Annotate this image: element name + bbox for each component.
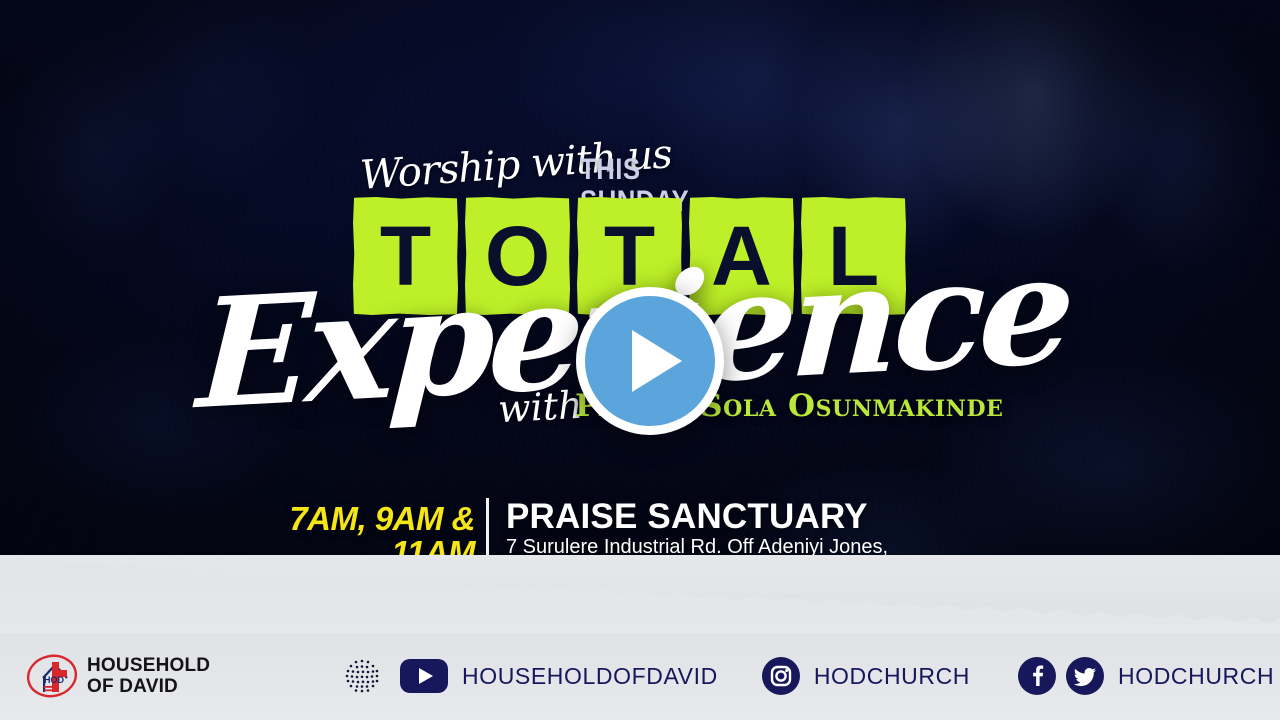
youtube-icon (400, 659, 448, 693)
venue-name: PRAISE SANCTUARY (506, 496, 868, 537)
logo-monogram: HOD (44, 675, 65, 685)
facebook-icon (1018, 657, 1056, 695)
logo-svg: HOD (26, 652, 78, 700)
logo-wordmark: HOUSEHOLD OF DAVID (87, 655, 210, 697)
video-thumbnail: Worship with us THIS SUNDAY T O T A L Ex… (0, 0, 1280, 720)
play-button[interactable] (576, 287, 724, 435)
twitter-handle: HODCHURCH (1118, 664, 1274, 689)
social-instagram[interactable]: HODCHURCH (762, 657, 970, 695)
logo-line-1: HOUSEHOLD (87, 655, 210, 676)
social-links: HOUSEHOLDOFDAVID HODCHURCH (342, 656, 1274, 696)
with-word-text: with (497, 384, 584, 430)
torn-paper-edge (0, 555, 1280, 633)
brand-logo[interactable]: HOD HOUSEHOLD OF DAVID (26, 652, 210, 700)
play-triangle-icon (632, 330, 682, 392)
social-facebook[interactable] (1018, 657, 1056, 695)
logo-line-2: OF DAVID (87, 676, 210, 697)
twitter-icon (1066, 657, 1104, 695)
social-twitter[interactable]: HODCHURCH (1066, 657, 1274, 695)
household-of-david-mark-icon: HOD (26, 652, 78, 700)
instagram-handle: HODCHURCH (814, 664, 970, 689)
social-youtube[interactable]: HOUSEHOLDOFDAVID (400, 659, 718, 693)
instagram-icon (762, 657, 800, 695)
dotted-circle-decoration-icon (342, 656, 382, 696)
eyebrow-line: Worship with us THIS SUNDAY (352, 140, 772, 192)
youtube-handle: HOUSEHOLDOFDAVID (462, 664, 718, 689)
